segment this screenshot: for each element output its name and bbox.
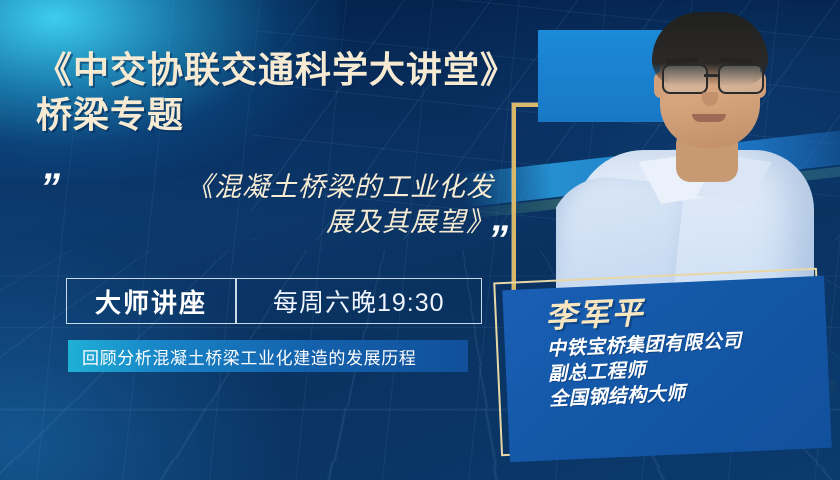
description-bar: 回顾分析混凝土桥梁工业化建造的发展历程 <box>68 340 468 372</box>
promo-poster: 李军平 中铁宝桥集团有限公司 副总工程师 全国钢结构大师 《中交协联交通科学大讲… <box>0 0 840 480</box>
photo-mouth <box>692 114 726 122</box>
photo-lens-left <box>662 64 708 94</box>
quote-mark-close-icon: ” <box>488 220 508 260</box>
quote-mark-open-icon: ” <box>40 168 60 208</box>
title-line-1: 《中交协联交通科学大讲堂》 <box>36 48 506 93</box>
photo-lens-right <box>718 64 764 94</box>
page-title: 《中交协联交通科学大讲堂》 桥梁专题 <box>36 48 506 137</box>
description-text: 回顾分析混凝土桥梁工业化建造的发展历程 <box>68 344 416 369</box>
photo-glasses <box>656 64 766 92</box>
title-line-2: 桥梁专题 <box>36 93 506 138</box>
subtitle-line-2: 展及其展望》 <box>84 205 494 240</box>
subtitle-line-1: 《混凝土桥梁的工业化发 <box>84 170 494 205</box>
speaker-card: 李军平 中铁宝桥集团有限公司 副总工程师 全国钢结构大师 <box>502 276 831 462</box>
schedule-time: 每周六晚19:30 <box>237 283 482 319</box>
lecture-subtitle-block: ” 《混凝土桥梁的工业化发 展及其展望》 ” <box>36 168 516 268</box>
photo-glasses-bridge <box>704 74 718 77</box>
lecture-subtitle: 《混凝土桥梁的工业化发 展及其展望》 <box>84 170 494 240</box>
schedule-box: 大师讲座 每周六晚19:30 <box>66 278 482 324</box>
schedule-label: 大师讲座 <box>67 283 235 320</box>
